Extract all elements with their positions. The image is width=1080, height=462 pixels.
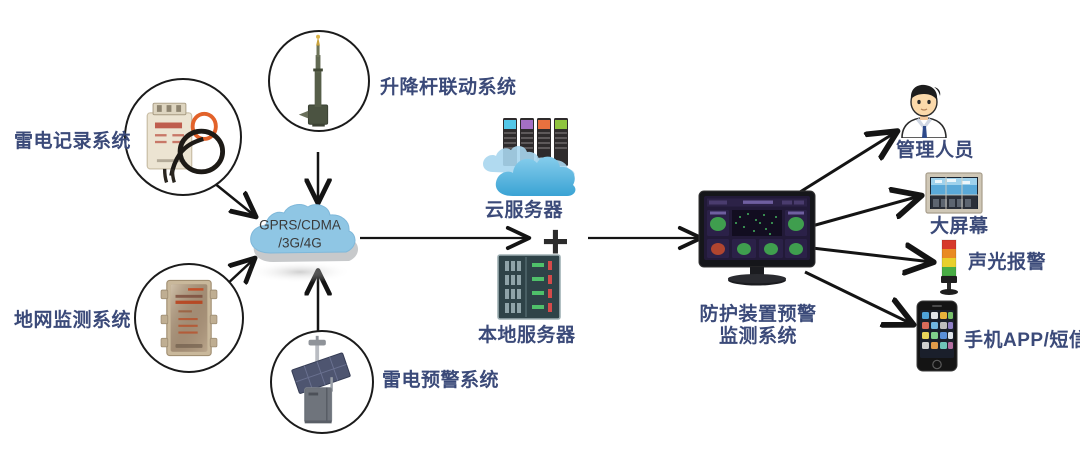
stack-light-art: [936, 238, 962, 296]
label-lightning-warning: 雷电预警系统: [382, 370, 499, 392]
label-mobile: 手机APP/短信: [964, 330, 1080, 352]
label-bigscreen: 大屏幕: [930, 216, 989, 238]
label-mast-linkage: 升降杆联动系统: [380, 77, 517, 99]
node-lightning-recorder[interactable]: [124, 78, 242, 196]
node-ground-network[interactable]: [134, 263, 244, 373]
label-lightning-recorder: 雷电记录系统: [14, 131, 131, 153]
platform-monitor[interactable]: [698, 190, 816, 288]
platform-line-2: 监测系统: [688, 326, 828, 348]
stack-light-alarm-icon[interactable]: [936, 238, 962, 296]
node-mast-linkage[interactable]: [268, 30, 370, 132]
label-local-server: 本地服务器: [478, 325, 576, 347]
diagram-canvas: 雷电记录系统 升降杆联动系统: [0, 0, 1080, 462]
connector-layer: [0, 0, 1080, 462]
label-alarm: 声光报警: [968, 252, 1046, 274]
label-platform: 防护装置预警 监测系统: [688, 304, 828, 349]
ground-monitor-box-icon: [136, 265, 242, 371]
network-cloud[interactable]: GPRS/CDMA /3G/4G: [236, 192, 364, 284]
solar-warning-station-icon: [272, 332, 372, 432]
lightning-recorder-icon: [126, 80, 240, 194]
manager-avatar-icon[interactable]: [896, 82, 952, 138]
local-server-art: [496, 253, 562, 321]
telescopic-mast-icon: [270, 32, 368, 130]
node-lightning-warning[interactable]: [270, 330, 374, 434]
cloud-line-2: /3G/4G: [236, 234, 364, 251]
manager-art: [896, 82, 952, 138]
label-manager: 管理人员: [896, 140, 974, 162]
platform-line-1: 防护装置预警: [688, 304, 828, 326]
smartphone-icon[interactable]: [916, 300, 958, 372]
video-wall-icon[interactable]: [925, 172, 983, 214]
cloud-text: GPRS/CDMA /3G/4G: [236, 217, 364, 252]
cloud-server-art: [479, 110, 587, 202]
local-server-icon[interactable]: [496, 253, 562, 321]
label-ground-network: 地网监测系统: [14, 310, 131, 332]
cloud-line-1: GPRS/CDMA: [236, 217, 364, 234]
monitor-art: [698, 190, 816, 288]
video-wall-art: [925, 172, 983, 214]
cloud-server-icon[interactable]: [479, 110, 587, 202]
smartphone-art: [916, 300, 958, 372]
